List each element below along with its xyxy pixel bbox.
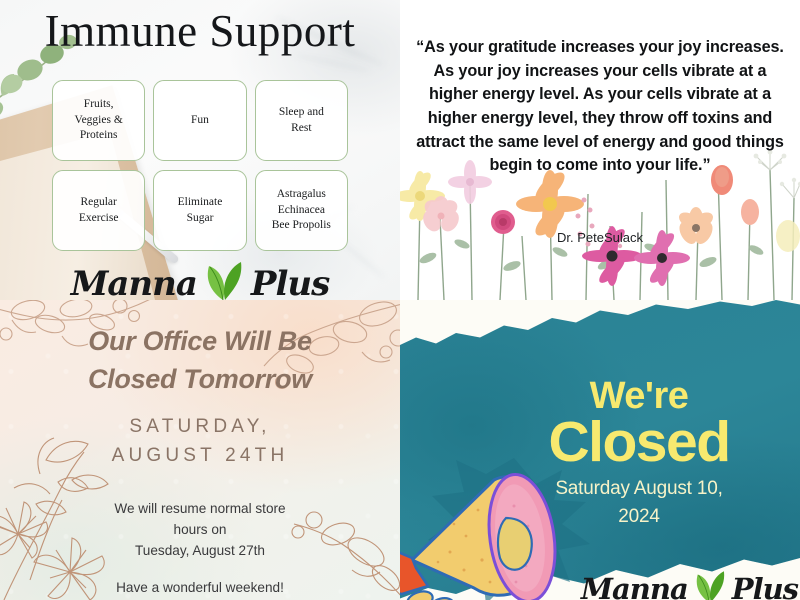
logo-word-plus: Plus [251,264,329,300]
immune-card: Fun [153,80,246,161]
page-title: Immune Support [0,8,400,55]
panel-immune-support: Immune Support Fruits, Veggies & Protein… [0,0,400,300]
immune-card: Eliminate Sugar [153,170,246,251]
panel-gratitude-quote: “As your gratitude increases your joy in… [400,0,800,300]
immune-card: Sleep and Rest [255,80,348,161]
page-title: Our Office Will Be Closed Tomorrow [40,322,360,399]
leaf-icon [691,568,729,600]
manna-plus-logo: Manna Plus [0,260,400,300]
closure-signoff: Have a wonderful weekend! [30,580,370,595]
marble-vein [293,54,372,73]
image-collage: Immune Support Fruits, Veggies & Protein… [0,0,800,600]
closed-date: Saturday August 10, 2024 [494,475,784,530]
quote-text: “As your gratitude increases your joy in… [408,36,792,178]
heading-line-2: Closed [494,415,784,469]
closed-heading: We're Closed Saturday August 10, 2024 [494,378,784,530]
immune-card: Astragalus Echinacea Bee Propolis [255,170,348,251]
panel-were-closed: We're Closed Saturday August 10, 2024 Ma… [400,300,800,600]
quote-author: Dr. PeteSulack [400,230,800,245]
logo-word-plus: Plus [732,572,798,600]
immune-card: Fruits, Veggies & Proteins [52,80,145,161]
immune-card: Regular Exercise [52,170,145,251]
closure-body-text: We will resume normal store hours on Tue… [30,498,370,561]
logo-word-manna: Manna [581,572,688,600]
closure-date: SATURDAY, AUGUST 24TH [30,412,370,471]
panel-office-closed: Our Office Will Be Closed Tomorrow SATUR… [0,300,400,600]
manna-plus-logo: Manna Plus [581,570,798,600]
immune-card-grid: Fruits, Veggies & Proteins Fun Sleep and… [52,80,348,251]
leaf-icon [201,258,247,300]
logo-word-manna: Manna [71,264,197,300]
